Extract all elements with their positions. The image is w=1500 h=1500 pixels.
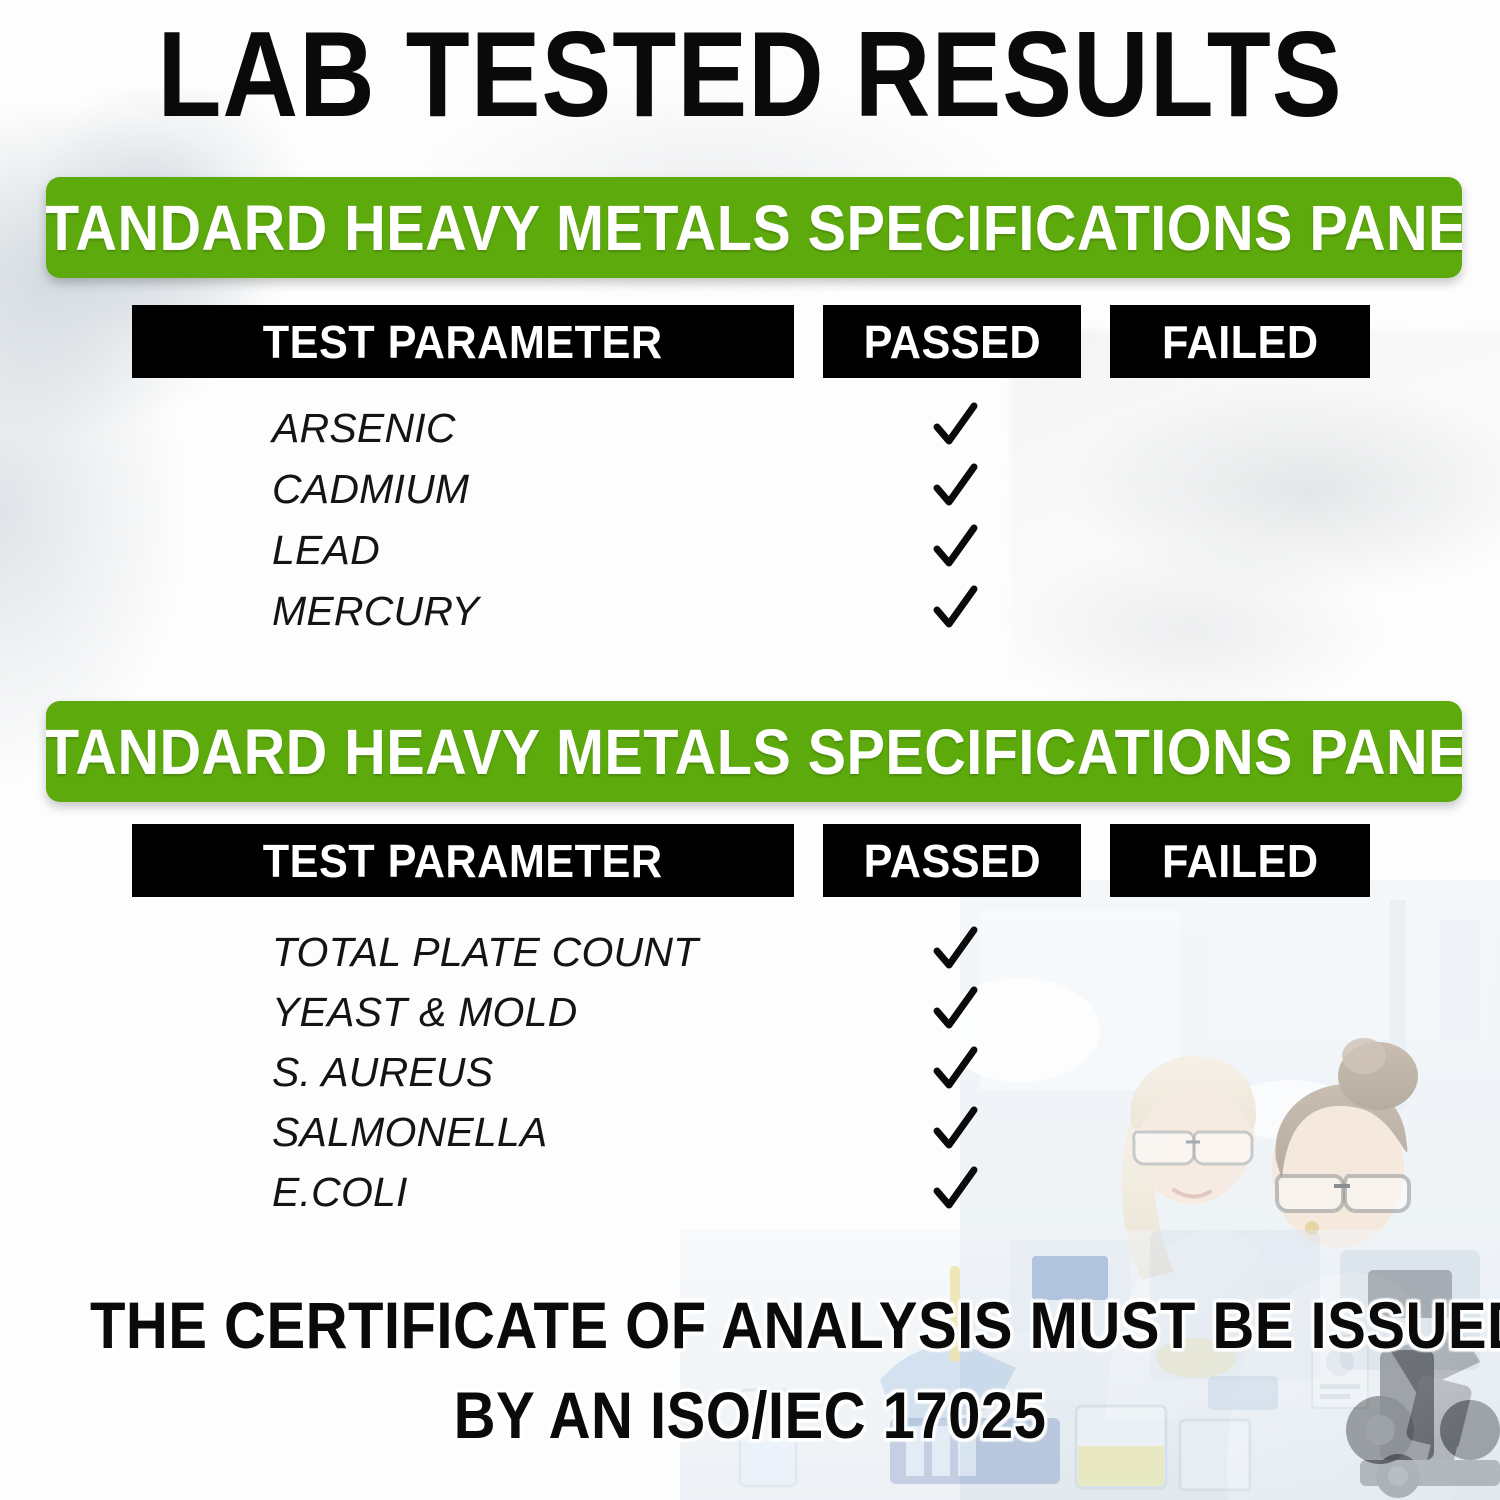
panel-banner-microbiology: STANDARD HEAVY METALS SPECIFICATIONS PAN… — [46, 701, 1462, 802]
panel-2-table-body: TOTAL PLATE COUNT YEAST & MOLD S. AUREUS… — [0, 928, 1500, 1228]
table-header-label: TEST PARAMETER — [263, 319, 663, 365]
check-icon — [930, 984, 980, 1034]
lab-tested-results-poster: LAB TESTED RESULTS STANDARD HEAVY METALS… — [0, 0, 1500, 1500]
test-parameter-label: ARSENIC — [272, 404, 456, 452]
table-row: CADMIUM — [0, 465, 1500, 526]
table-row: E.COLI — [0, 1168, 1500, 1228]
table-header-label: PASSED — [863, 319, 1040, 365]
failed-cell — [1216, 1044, 1266, 1094]
test-parameter-label: CADMIUM — [272, 465, 469, 513]
test-parameter-label: E.COLI — [272, 1168, 408, 1216]
panel-banner-label: STANDARD HEAVY METALS SPECIFICATIONS PAN… — [46, 196, 1462, 260]
table-row: SALMONELLA — [0, 1108, 1500, 1168]
test-parameter-label: S. AUREUS — [272, 1048, 493, 1096]
failed-cell — [1216, 984, 1266, 1034]
failed-cell — [1216, 1164, 1266, 1214]
check-icon — [930, 400, 980, 450]
test-parameter-label: YEAST & MOLD — [272, 988, 577, 1036]
table-header-label: PASSED — [863, 838, 1040, 884]
table-header-failed: FAILED — [1110, 305, 1370, 378]
failed-cell — [1216, 1104, 1266, 1154]
check-icon — [930, 522, 980, 572]
test-parameter-label: LEAD — [272, 526, 380, 574]
check-icon — [930, 1044, 980, 1094]
table-header-label: FAILED — [1162, 838, 1319, 884]
failed-cell — [1216, 583, 1266, 633]
certificate-note-line-2: BY AN ISO/IEC 17025 — [90, 1378, 1410, 1452]
failed-cell — [1216, 522, 1266, 572]
panel-banner-heavy-metals: STANDARD HEAVY METALS SPECIFICATIONS PAN… — [46, 177, 1462, 278]
table-header-failed: FAILED — [1110, 824, 1370, 897]
table-row: ARSENIC — [0, 404, 1500, 465]
failed-cell — [1216, 400, 1266, 450]
test-parameter-label: TOTAL PLATE COUNT — [272, 928, 698, 976]
test-parameter-label: MERCURY — [272, 587, 479, 635]
panel-banner-label: STANDARD HEAVY METALS SPECIFICATIONS PAN… — [46, 720, 1462, 784]
table-header-test-parameter: TEST PARAMETER — [132, 305, 794, 378]
certificate-note-line-1: THE CERTIFICATE OF ANALYSIS MUST BE ISSU… — [90, 1288, 1410, 1362]
table-header-passed: PASSED — [823, 305, 1081, 378]
check-icon — [930, 1104, 980, 1154]
table-header-label: FAILED — [1162, 319, 1319, 365]
table-header-passed: PASSED — [823, 824, 1081, 897]
page-title: LAB TESTED RESULTS — [105, 14, 1395, 134]
check-icon — [930, 924, 980, 974]
table-row: YEAST & MOLD — [0, 988, 1500, 1048]
check-icon — [930, 1164, 980, 1214]
table-row: MERCURY — [0, 587, 1500, 648]
table-row: TOTAL PLATE COUNT — [0, 928, 1500, 988]
failed-cell — [1216, 461, 1266, 511]
panel-1-table-body: ARSENIC CADMIUM LEAD MERCURY — [0, 404, 1500, 648]
check-icon — [930, 583, 980, 633]
lab-bench-photo — [680, 1230, 1500, 1500]
failed-cell — [1216, 924, 1266, 974]
check-icon — [930, 461, 980, 511]
table-row: LEAD — [0, 526, 1500, 587]
test-parameter-label: SALMONELLA — [272, 1108, 547, 1156]
table-header-test-parameter: TEST PARAMETER — [132, 824, 794, 897]
table-row: S. AUREUS — [0, 1048, 1500, 1108]
table-header-label: TEST PARAMETER — [263, 838, 663, 884]
